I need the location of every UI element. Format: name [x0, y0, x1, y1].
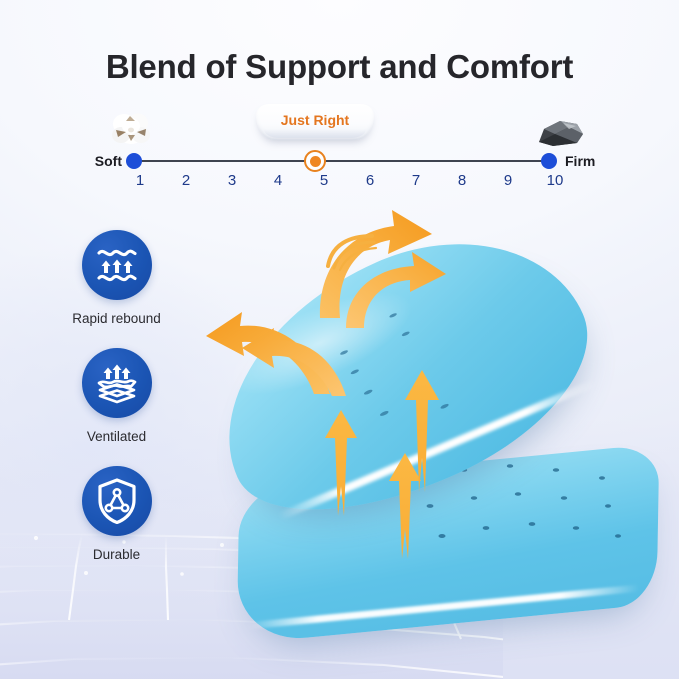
scale-endpoint-soft: [126, 153, 142, 169]
scale-tick: 7: [401, 172, 431, 189]
feature-label: Rapid rebound: [66, 311, 167, 326]
feature-rapid-rebound: Rapid rebound: [66, 230, 167, 326]
feature-icon-circle: [82, 348, 152, 418]
just-right-label: Just Right: [256, 104, 374, 140]
page-title: Blend of Support and Comfort: [0, 48, 679, 86]
layers-airflow-icon: [94, 361, 140, 405]
scale-tick: 6: [355, 172, 385, 189]
just-right-badge: Just Right: [256, 104, 374, 140]
feature-icon-circle: [82, 466, 152, 536]
scale-tick: 10: [540, 172, 570, 189]
scale-ticks: 1 2 3 4 5 6 7 8 9 10: [118, 172, 566, 194]
waves-up-arrows-icon: [95, 243, 139, 287]
product-infographic: Blend of Support and Comfort: [0, 0, 679, 679]
rock-stone-icon: [533, 110, 589, 154]
scale-tick: 3: [217, 172, 247, 189]
cotton-boll-icon: [104, 108, 160, 152]
scale-tick: 4: [263, 172, 293, 189]
feature-label: Ventilated: [66, 429, 167, 444]
scale-tick: 5: [309, 172, 339, 189]
scale-tick: 9: [493, 172, 523, 189]
scale-track: [132, 160, 548, 162]
scale-endpoint-firm: [541, 153, 557, 169]
memory-foam-pillow-image: [176, 196, 679, 679]
scale-tick: 2: [171, 172, 201, 189]
feature-ventilated: Ventilated: [66, 348, 167, 444]
scale-tick: 1: [125, 172, 155, 189]
scale-marker-core: [310, 156, 321, 167]
firmness-scale: Just Right Soft Firm 1 2 3 4 5 6 7 8 9 1…: [78, 108, 601, 190]
scale-tick: 8: [447, 172, 477, 189]
soft-label: Soft: [78, 153, 122, 169]
feature-icon-circle: [82, 230, 152, 300]
shield-molecule-icon: [96, 478, 138, 524]
scale-marker[interactable]: [304, 150, 326, 172]
firm-label: Firm: [565, 153, 625, 169]
feature-list: Rapid rebound Ventilated: [66, 230, 206, 584]
feature-durable: Durable: [66, 466, 167, 562]
feature-label: Durable: [66, 547, 167, 562]
